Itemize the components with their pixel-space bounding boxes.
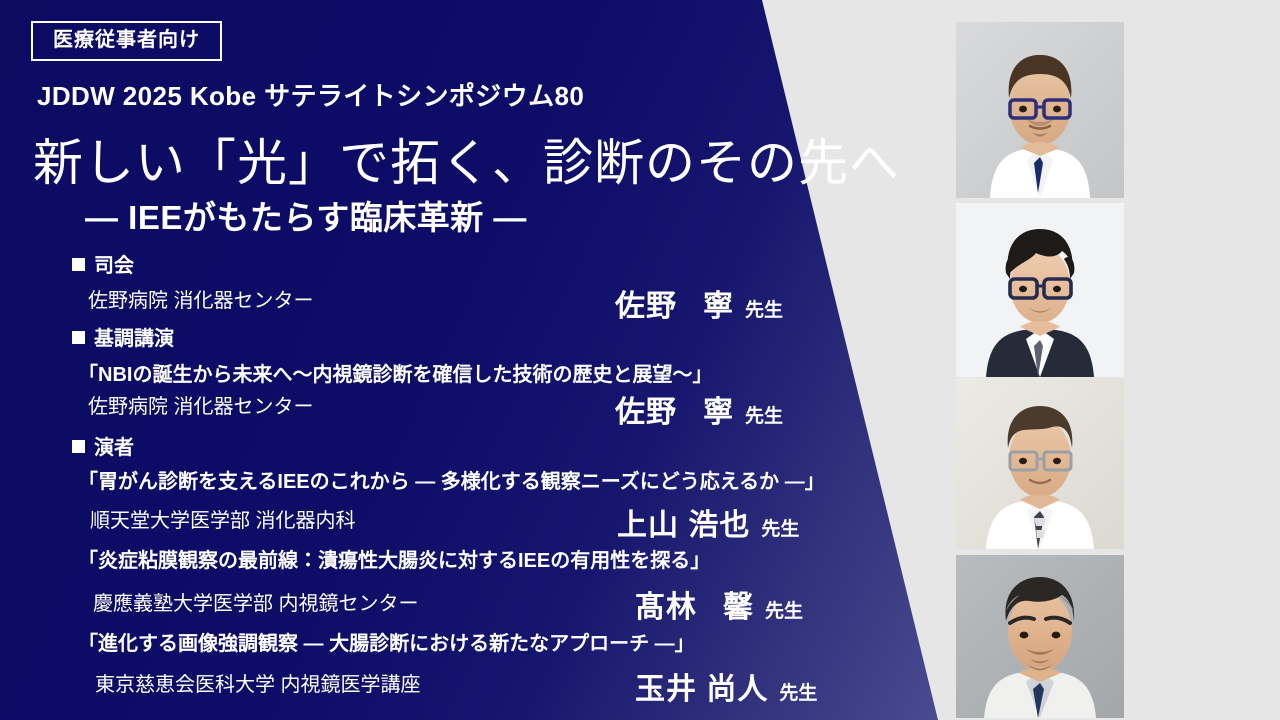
speaker-name-chair: 佐野寧先生 [615, 281, 783, 325]
lecture-title-speaker-1: 「胃がん診断を支えるIEEのこれから ― 多様化する観察ニーズにどう応えるか ―… [78, 465, 825, 494]
portrait-2-image [956, 203, 1124, 377]
section-heading-speakers-label: 演者 [94, 437, 134, 459]
speaker-givenname-keynote: 寧 [703, 396, 734, 429]
lecture-title-keynote: 「NBIの誕生から未来へ〜内視鏡診断を確信した技術の歴史と展望〜」 [78, 358, 712, 387]
speaker-photo-3 [956, 378, 1124, 549]
affiliation-speaker-1: 順天堂大学医学部 消化器内科 [90, 504, 356, 533]
portrait-1-image [956, 22, 1124, 198]
speaker-givenname-2: 馨 [723, 591, 754, 624]
portrait-4-image [956, 555, 1124, 718]
section-heading-keynote: 基調講演 [72, 322, 174, 351]
page-title: 新しい「光」で拓く、診断のその先へ [33, 123, 900, 195]
speaker-surname-chair: 佐野 [615, 290, 677, 323]
bullet-square-icon [72, 258, 85, 271]
symposium-poster: 医療従事者向け JDDW 2025 Kobe サテライトシンポジウム80 新しい… [0, 0, 1280, 720]
event-name-line: JDDW 2025 Kobe サテライトシンポジウム80 [37, 76, 584, 113]
speaker-name-2: 髙林馨先生 [635, 582, 803, 626]
speaker-photo-2 [956, 203, 1124, 377]
speaker-name-keynote: 佐野寧先生 [615, 387, 783, 431]
speaker-photo-1 [956, 22, 1124, 198]
portrait-3-image [956, 378, 1124, 549]
affiliation-speaker-3: 東京慈恵会医科大学 内視鏡医学講座 [95, 668, 421, 697]
honorific-speaker-1: 先生 [761, 519, 799, 540]
section-heading-keynote-label: 基調講演 [94, 328, 174, 350]
section-heading-chair: 司会 [72, 249, 134, 278]
honorific-chair: 先生 [745, 300, 783, 321]
page-subtitle: ― IEEがもたらす臨床革新 ― [85, 191, 527, 239]
audience-badge: 医療従事者向け [31, 21, 222, 61]
affiliation-speaker-2: 慶應義塾大学医学部 内視鏡センター [93, 587, 419, 616]
lecture-title-speaker-2: 「炎症粘膜観察の最前線：潰瘍性大腸炎に対するIEEの有用性を探る」 [78, 544, 710, 573]
speaker-surname-2: 髙林 [635, 591, 697, 624]
speaker-name-1: 上山 浩也先生 [617, 500, 799, 544]
affiliation-keynote: 佐野病院 消化器センター [88, 390, 314, 419]
poster-content: 医療従事者向け JDDW 2025 Kobe サテライトシンポジウム80 新しい… [0, 0, 960, 720]
honorific-keynote: 先生 [745, 406, 783, 427]
honorific-speaker-2: 先生 [765, 601, 803, 622]
speaker-fullname-1: 上山 浩也 [617, 509, 750, 542]
bullet-square-icon [72, 440, 85, 453]
lecture-title-speaker-3: 「進化する画像強調観察 ― 大腸診断における新たなアプローチ ―」 [78, 627, 695, 656]
speaker-fullname-3: 玉井 尚人 [635, 673, 768, 706]
section-heading-speakers: 演者 [72, 431, 134, 460]
honorific-speaker-3: 先生 [779, 683, 817, 704]
speaker-name-3: 玉井 尚人先生 [635, 664, 817, 708]
speaker-givenname-chair: 寧 [703, 290, 734, 323]
speaker-surname-keynote: 佐野 [615, 396, 677, 429]
affiliation-chair: 佐野病院 消化器センター [88, 284, 314, 313]
section-heading-chair-label: 司会 [94, 255, 134, 277]
speaker-photo-4 [956, 555, 1124, 718]
bullet-square-icon [72, 331, 85, 344]
